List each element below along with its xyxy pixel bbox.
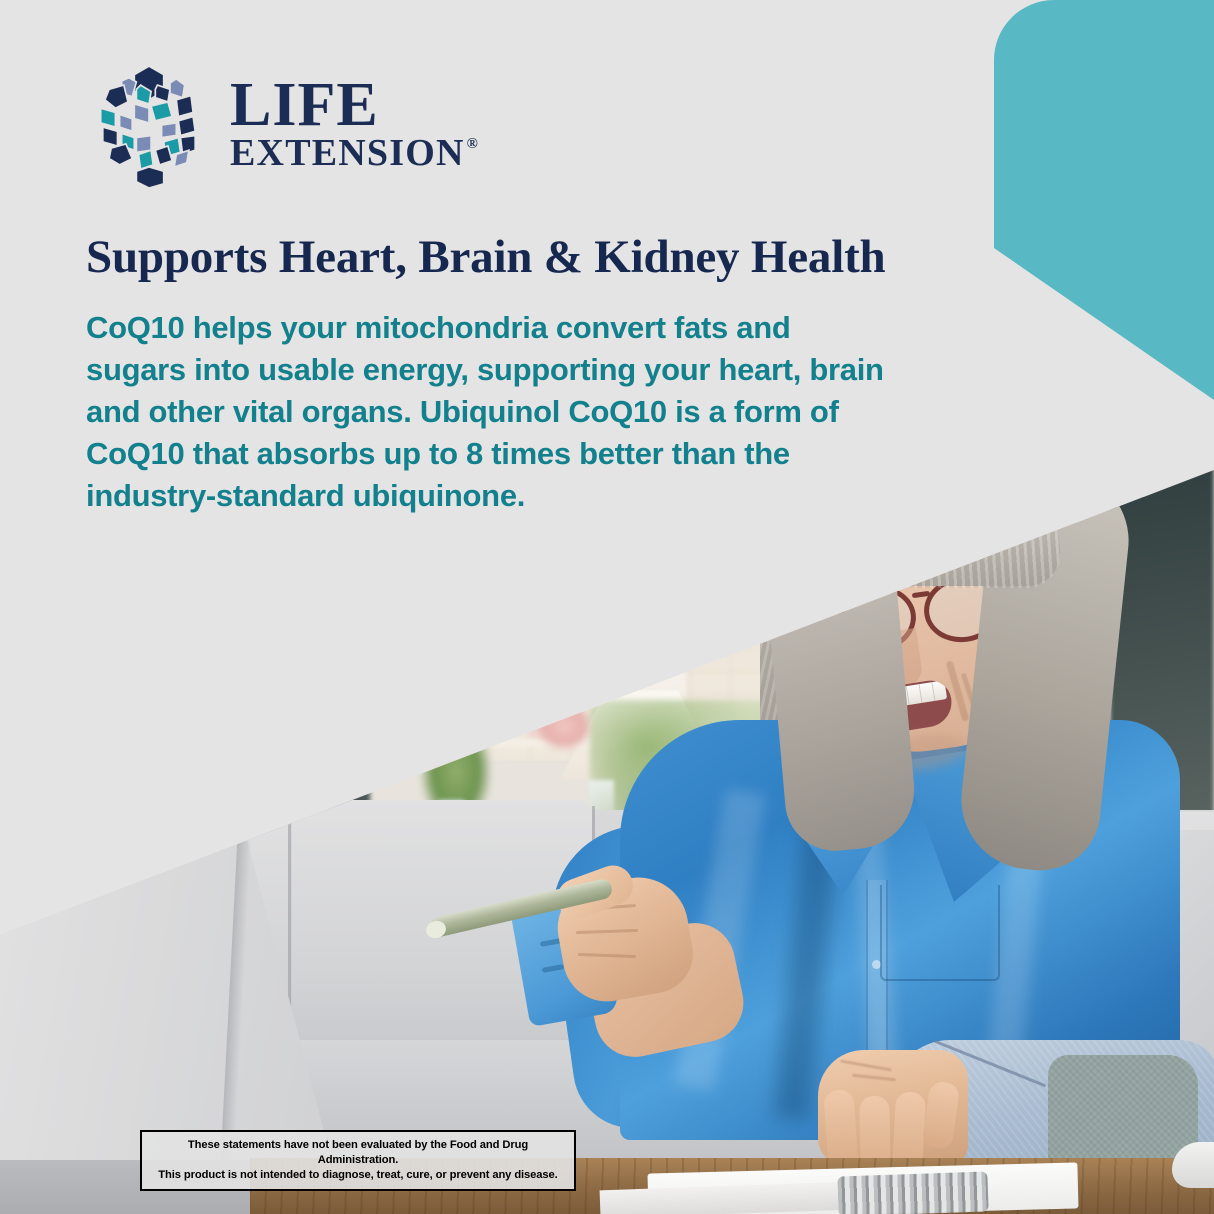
shelf-jar [503, 712, 517, 738]
brand-logo[interactable]: LIFE EXTENSION ® [86, 62, 1000, 188]
disclaimer-line-1: These statements have not been evaluated… [150, 1138, 566, 1168]
body-copy: CoQ10 helps your mitochondria convert fa… [86, 307, 886, 518]
logo-text-extension: EXTENSION [230, 134, 465, 174]
pendant-lamp [485, 604, 595, 670]
shelf-jar [500, 654, 512, 678]
logo-text-life: LIFE [230, 76, 478, 134]
fda-disclaimer-box: These statements have not been evaluated… [140, 1130, 576, 1191]
shelf-jar [478, 648, 493, 678]
shelf-jar [586, 648, 602, 678]
product-banner: LIFE EXTENSION ® Supports Heart, Brain &… [0, 0, 1214, 1214]
teal-corner-accent [994, 0, 1214, 400]
shelf-jar [524, 645, 542, 678]
kitchen-shelf-upper [455, 678, 650, 687]
shirt-pocket [880, 885, 1000, 981]
hexagon-mosaic-logo-icon [86, 62, 212, 188]
eyebrow-left [848, 563, 906, 580]
content-block: LIFE EXTENSION ® Supports Heart, Brain &… [0, 0, 1000, 518]
logo-wordmark: LIFE EXTENSION ® [230, 76, 478, 174]
shelf-jar [556, 652, 570, 678]
page-title: Supports Heart, Brain & Kidney Health [86, 232, 1000, 283]
shelf-jar [476, 706, 493, 738]
pink-flowers [536, 702, 592, 750]
spiral-binding [837, 1171, 988, 1214]
disclaimer-line-2: This product is not intended to diagnose… [150, 1168, 566, 1183]
registered-trademark-icon: ® [467, 136, 478, 153]
